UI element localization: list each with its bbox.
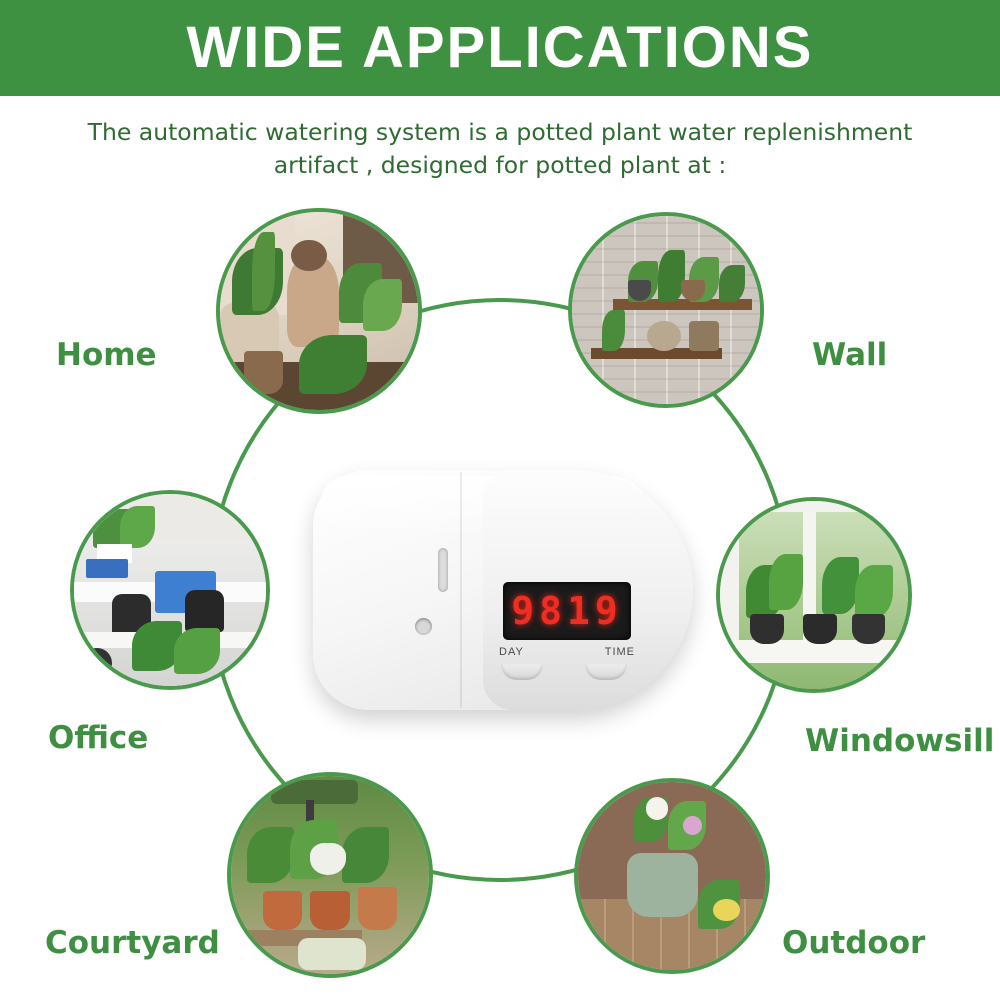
device-display: 9819 [503,582,631,640]
application-label-windowsill: Windowsill [805,723,994,759]
photo-outdoor [578,782,766,970]
application-photo-courtyard [227,772,433,978]
application-photo-home [216,208,422,414]
display-digits: 9819 [511,589,623,633]
applications-diagram: Home Wall [0,0,1000,1000]
photo-windowsill [720,501,908,689]
photo-home [220,212,418,410]
watering-timer-device: 9819 DAY TIME [313,470,693,710]
application-label-home: Home [56,337,157,373]
device-seam [460,472,462,708]
application-photo-wall [568,212,764,408]
time-button-label: TIME [605,646,635,658]
photo-office [74,494,266,686]
application-label-wall: Wall [812,337,887,373]
application-photo-office [70,490,270,690]
device-port [415,618,432,635]
application-photo-outdoor [574,778,770,974]
application-label-outdoor: Outdoor [782,925,925,961]
application-photo-windowsill [716,497,912,693]
photo-wall [572,216,760,404]
application-label-office: Office [48,720,148,756]
device-button-labels: DAY TIME [499,646,635,658]
application-label-courtyard: Courtyard [45,925,220,961]
day-button-label: DAY [499,646,524,658]
photo-courtyard [231,776,429,974]
device-vent-slot [438,548,448,592]
